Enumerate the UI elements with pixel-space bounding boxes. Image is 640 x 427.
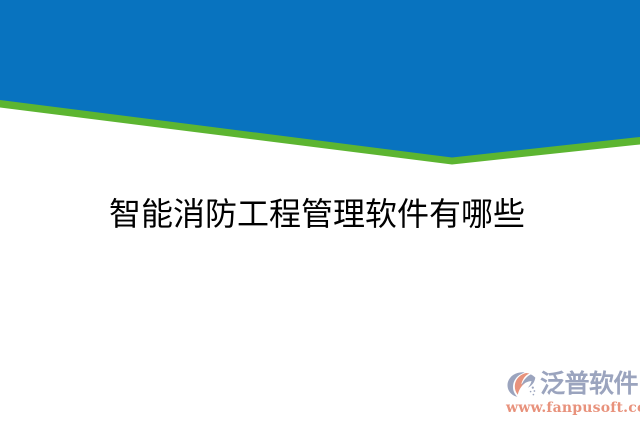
fanpu-leaf-swoosh-icon xyxy=(506,370,537,399)
banner-blue-shape xyxy=(0,0,640,158)
page-title: 智能消防工程管理软件有哪些 xyxy=(109,196,549,232)
banner-green-stripe xyxy=(0,100,640,165)
watermark-brand-text: 泛普软件 xyxy=(540,370,638,398)
watermark-brand-row: 泛普软件 xyxy=(506,368,636,400)
watermark-url-text: www.fanpusoft.com xyxy=(506,400,636,417)
slide-canvas: 智能消防工程管理软件有哪些 泛普软件 www.fanpusoft.com xyxy=(0,0,640,427)
header-banner xyxy=(0,0,640,175)
watermark-logo: 泛普软件 www.fanpusoft.com xyxy=(506,368,636,420)
